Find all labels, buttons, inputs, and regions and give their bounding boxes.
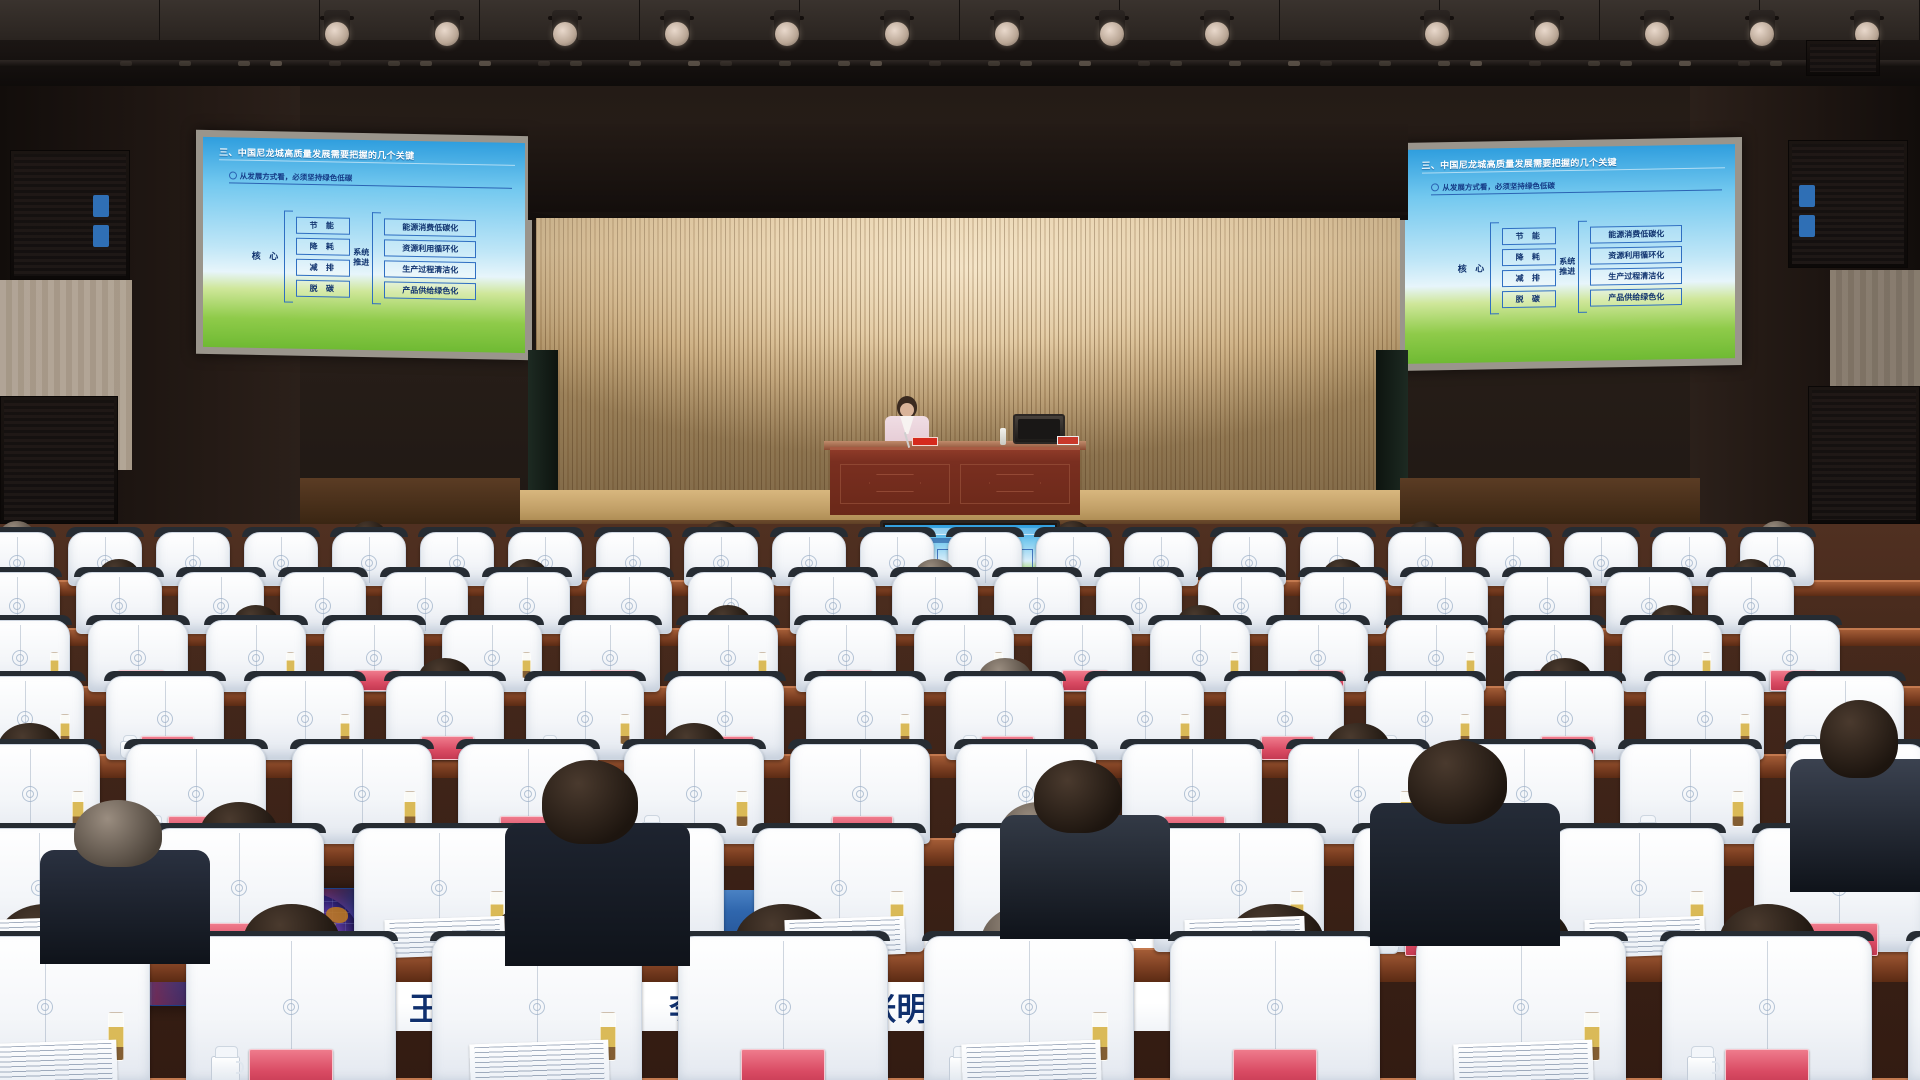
ceiling-fitting [388, 61, 400, 66]
foreground-attendee-head [1034, 760, 1122, 833]
slide-system-items: 能源消费低碳化 资源利用循环化 生产过程清洁化 产品供给绿色化 [384, 218, 476, 300]
brace-left [1490, 222, 1499, 314]
ceiling-fitting [779, 61, 791, 66]
slide-system-item: 能源消费低碳化 [1590, 225, 1682, 244]
foreground-attendee-body [1370, 803, 1560, 946]
desk-nameplate [1233, 1049, 1317, 1080]
slide-core-item: 脱 碳 [1502, 290, 1556, 308]
slide-system-label: 系统 推进 [1559, 257, 1575, 277]
slide-system-item: 产品供给绿色化 [384, 281, 476, 300]
ceiling-fitting [238, 61, 250, 66]
ceiling-projector [1806, 40, 1880, 76]
projection-screen-left: 三、中国尼龙城高质量发展需要把握的几个关键 从发展方式看，必须坚持绿色低碳 核 … [196, 130, 532, 360]
ceiling-fitting [870, 61, 882, 66]
desk-nameplate [1725, 1049, 1809, 1080]
left-floor-speaker [0, 396, 118, 524]
stage-light [1200, 10, 1234, 56]
stage-light [660, 10, 694, 56]
slide-system-label: 系统 推进 [353, 247, 369, 267]
brace-right [1578, 221, 1587, 313]
foreground-attendee-head [74, 800, 162, 867]
slide-core-item: 节 能 [1502, 227, 1556, 245]
stage-light [430, 10, 464, 56]
ceiling-fitting [1738, 61, 1750, 66]
ceiling-fitting [329, 61, 341, 66]
right-speaker-array [1788, 140, 1908, 268]
ceiling [0, 0, 1920, 92]
ceiling-fitting [1438, 61, 1450, 66]
ceiling-fitting [1679, 61, 1691, 66]
ceramic-mug [1687, 1056, 1716, 1080]
stage-curtain-wing-left [528, 350, 558, 500]
ceiling-fitting [929, 61, 941, 66]
ceiling-panels [0, 0, 1920, 40]
slide-diagram: 核 心 节 能 降 耗 减 排 脱 碳 系统 推进 能源消费低碳化 资源利用循环… [1405, 202, 1735, 332]
mug-lid [644, 815, 660, 823]
slide-subtitle: 从发展方式看，必须坚持绿色低碳 [1431, 178, 1721, 196]
tea-tumbler [404, 791, 416, 827]
stage-light [548, 10, 582, 56]
slide-core-items: 节 能 降 耗 减 排 脱 碳 [1502, 227, 1556, 308]
slide-left: 三、中国尼龙城高质量发展需要把握的几个关键 从发展方式看，必须坚持绿色低碳 核 … [203, 137, 525, 353]
mug-lid [1640, 815, 1656, 823]
slide-diagram: 核 心 节 能 降 耗 减 排 脱 碳 系统 推进 能源消费低碳化 资源利用循环… [203, 194, 525, 322]
slide-core-item: 降 耗 [1502, 248, 1556, 266]
bullet-icon [1431, 183, 1439, 191]
slide-right: 三、中国尼龙城高质量发展需要把握的几个关键 从发展方式看，必须坚持绿色低碳 核 … [1405, 144, 1735, 364]
stage-light [770, 10, 804, 56]
ceiling-fitting [720, 61, 732, 66]
slide-system-item: 生产过程清洁化 [384, 260, 476, 279]
meeting-documents [469, 1040, 609, 1080]
slide-core-label: 核 心 [1458, 262, 1488, 276]
right-floor-speaker [1808, 386, 1920, 524]
foreground-attendee-body [505, 823, 690, 966]
lighting-rail [0, 60, 1920, 67]
ceiling-fitting [1529, 61, 1541, 66]
ceiling-fitting [538, 61, 550, 66]
stage-light [880, 10, 914, 56]
ceiling-fitting [1229, 61, 1241, 66]
ceiling-fitting [629, 61, 641, 66]
ceiling-fitting [1288, 61, 1300, 66]
ceiling-fitting [420, 61, 432, 66]
slide-title: 三、中国尼龙城高质量发展需要把握的几个关键 [219, 146, 515, 167]
slide-core-item: 脱 碳 [296, 279, 350, 297]
left-speaker-array [10, 150, 130, 280]
stage-nameplate-right [1057, 436, 1079, 445]
ceiling-fitting [1379, 61, 1391, 66]
ceiling-fitting [1770, 61, 1782, 66]
brace-left [284, 210, 293, 302]
ceiling-fitting [1079, 61, 1091, 66]
brace-right [372, 212, 381, 304]
stage-water-bottle [1000, 428, 1006, 445]
seat-chair [1908, 936, 1920, 1080]
ceiling-fitting [120, 61, 132, 66]
foreground-attendee-head [1408, 740, 1507, 824]
slide-title: 三、中国尼龙城高质量发展需要把握的几个关键 [1422, 153, 1726, 173]
ceiling-fitting [838, 61, 850, 66]
tea-tumbler [736, 791, 748, 827]
speaker-nameplate [912, 437, 938, 446]
proscenium-header [528, 124, 1408, 220]
meeting-documents [0, 1040, 118, 1080]
ceiling-fitting [1620, 61, 1632, 66]
bullet-icon [229, 171, 237, 179]
slide-system-item: 生产过程清洁化 [1590, 267, 1682, 286]
stage-light [990, 10, 1024, 56]
ceramic-mug [211, 1056, 240, 1080]
slide-system-item: 能源消费低碳化 [384, 218, 476, 237]
ceiling-fitting [479, 61, 491, 66]
ceiling-fitting [270, 61, 282, 66]
ceiling-fitting [1020, 61, 1032, 66]
meeting-documents [961, 1040, 1101, 1080]
desk-nameplate [741, 1049, 825, 1080]
stage-light [1095, 10, 1129, 56]
ceiling-fitting [179, 61, 191, 66]
slide-system-item: 产品供给绿色化 [1590, 288, 1682, 307]
foreground-attendee-body [1000, 815, 1170, 939]
ceiling-fitting [1138, 61, 1150, 66]
stage-light [1420, 10, 1454, 56]
ceiling-fitting [1320, 61, 1332, 66]
stage-light [1530, 10, 1564, 56]
projection-screen-right: 三、中国尼龙城高质量发展需要把握的几个关键 从发展方式看，必须坚持绿色低碳 核 … [1398, 137, 1742, 371]
foreground-attendee-head [542, 760, 638, 844]
slide-core-item: 降 耗 [296, 237, 350, 255]
ceiling-fitting [688, 61, 700, 66]
slide-core-items: 节 能 降 耗 减 排 脱 碳 [296, 216, 350, 297]
ceiling-fitting [570, 61, 582, 66]
slide-core-item: 减 排 [1502, 269, 1556, 287]
stage-light [1640, 10, 1674, 56]
slide-subtitle: 从发展方式看，必须坚持绿色低碳 [229, 170, 512, 188]
broadcast-frame: 三、中国尼龙城高质量发展需要把握的几个关键 从发展方式看，必须坚持绿色低碳 核 … [0, 0, 1920, 1080]
stage-light [1745, 10, 1779, 56]
stage-light [320, 10, 354, 56]
head-table [830, 447, 1080, 515]
ceiling-fitting [1170, 61, 1182, 66]
ceiling-fitting [1588, 61, 1600, 66]
foreground-attendee-body [1790, 759, 1920, 892]
mug-lid [215, 1046, 238, 1058]
meeting-documents [1453, 1040, 1593, 1080]
slide-system-item: 资源利用循环化 [1590, 246, 1682, 265]
slide-core-item: 节 能 [296, 216, 350, 234]
ceiling-fitting [1470, 61, 1482, 66]
tea-tumbler [1732, 791, 1744, 827]
ceiling-fitting [988, 61, 1000, 66]
foreground-attendee-body [40, 850, 210, 964]
mug-lid [1691, 1046, 1714, 1058]
slide-core-item: 减 排 [296, 258, 350, 276]
slide-core-label: 核 心 [252, 249, 282, 263]
slide-system-item: 资源利用循环化 [384, 239, 476, 258]
foreground-attendee-head [1820, 700, 1898, 778]
slide-system-items: 能源消费低碳化 资源利用循环化 生产过程清洁化 产品供给绿色化 [1590, 225, 1682, 307]
desk-nameplate [249, 1049, 333, 1080]
